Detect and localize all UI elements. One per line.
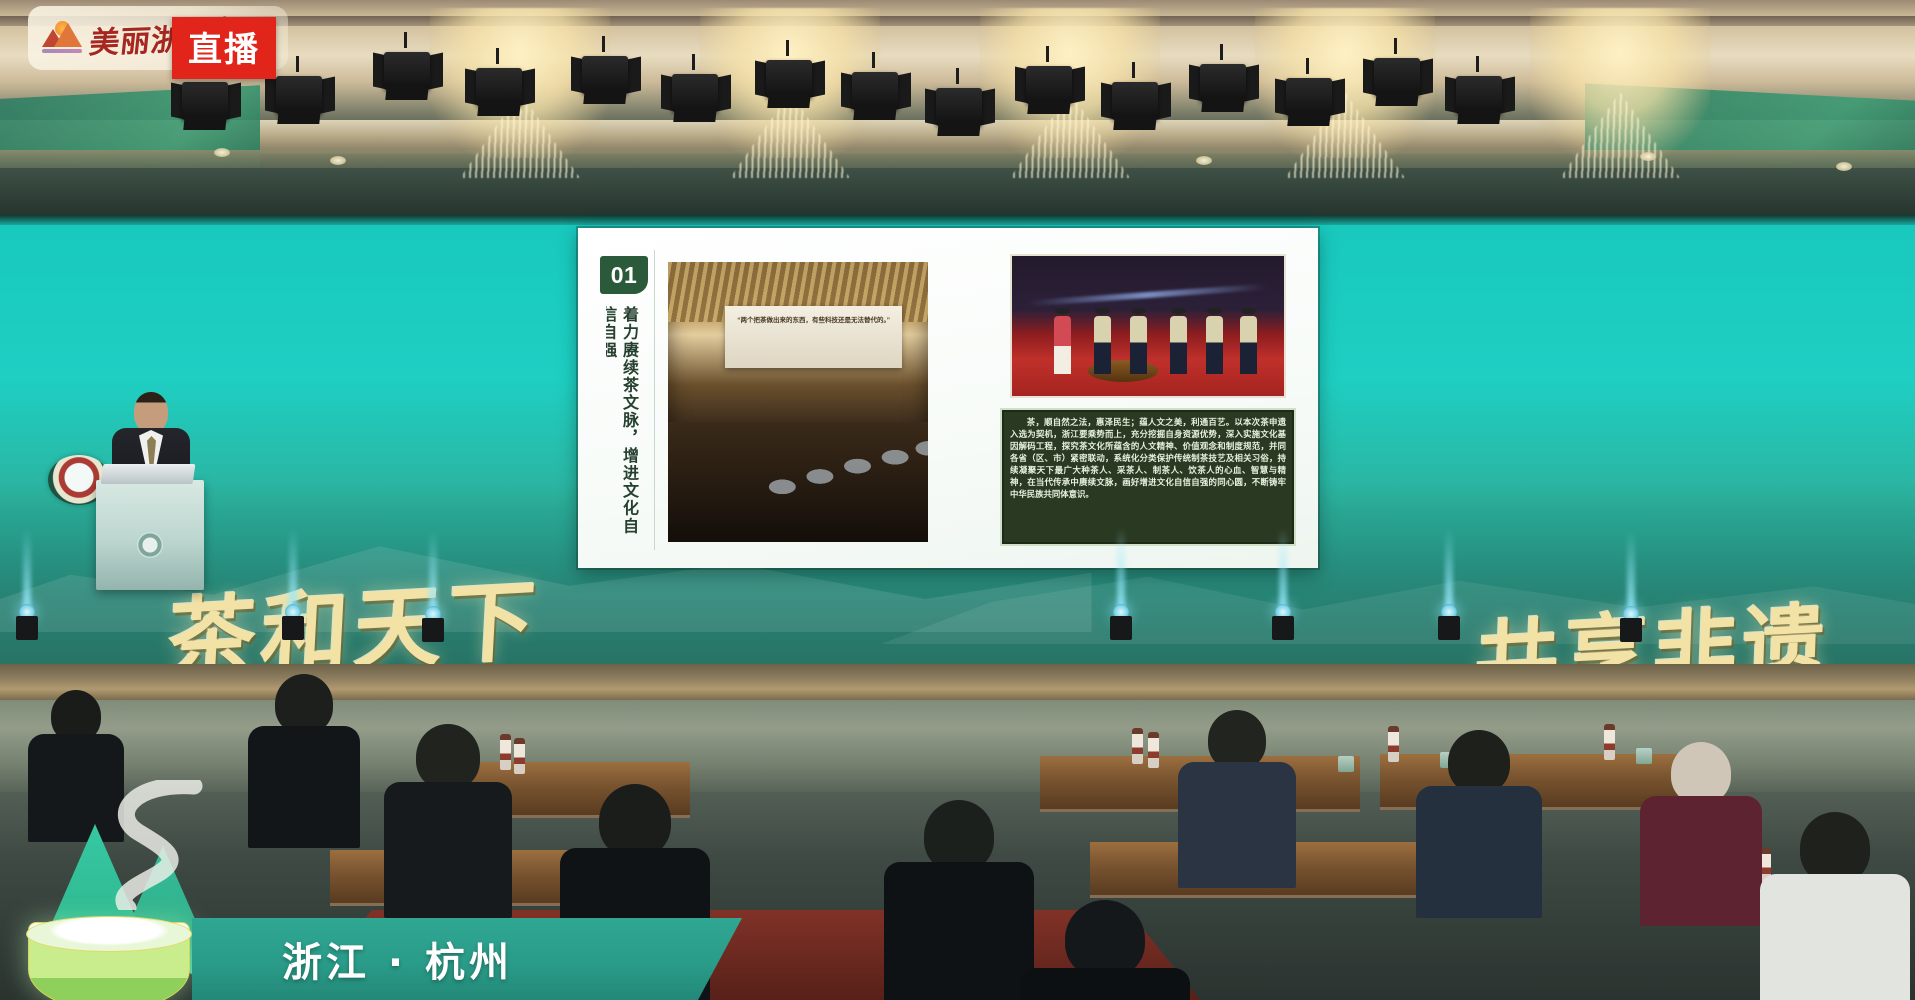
moving-head-light: [1106, 596, 1136, 640]
audience-member: [384, 724, 512, 914]
podium-emblem: [137, 532, 163, 558]
stage-spotlight: [1108, 74, 1164, 128]
stage-spotlight: [1370, 50, 1426, 104]
ceiling-downlight: [1836, 162, 1852, 171]
tea-cup: [1338, 756, 1354, 772]
stage-spotlight: [932, 80, 988, 134]
slide-body-text: 茶，顺自然之法，惠泽民生；蕴人文之美，利通百艺。以本次茶申遗入选为契机，浙江要乘…: [1010, 417, 1286, 500]
water-bottle: [1388, 726, 1399, 762]
audience-member: [1020, 900, 1190, 1000]
moving-head-light: [1268, 596, 1298, 640]
water-bottle: [1148, 732, 1159, 768]
stage-spotlight: [1452, 68, 1508, 122]
slide-vertical-title: 着力赓续茶文脉，增进文化自信自强: [606, 306, 640, 550]
moving-head-light: [12, 596, 42, 640]
ceiling-downlight: [1640, 152, 1656, 161]
audience-member: [28, 690, 124, 840]
mountain-sun-icon: [40, 21, 84, 55]
presentation-slide: 01 着力赓续茶文脉，增进文化自信自强 “两个把茶做出来的东西，有些科技还是无法…: [578, 228, 1318, 568]
tea-performance-stage-photo: [1012, 256, 1284, 396]
podium-laptop: [101, 464, 196, 484]
stage-spotlight: [1282, 70, 1338, 124]
stage-spotlight: [272, 68, 328, 122]
backdrop-calligraphy-left: 茶和天下: [165, 550, 544, 670]
water-bottle: [1132, 728, 1143, 764]
chandelier: [1530, 8, 1710, 158]
stage-spotlight: [1022, 58, 1078, 112]
audience-member: [1640, 742, 1762, 924]
slide-body-textbox: 茶，顺自然之法，惠泽民生；蕴人文之美，利通百艺。以本次茶申遗入选为契机，浙江要乘…: [1000, 408, 1296, 546]
moving-head-light: [418, 598, 448, 642]
moving-head-light: [1434, 596, 1464, 640]
live-badge: 直播: [172, 17, 276, 79]
photo-performer: [1094, 316, 1111, 374]
ceiling-downlight: [1196, 156, 1212, 165]
stage-spotlight: [1196, 56, 1252, 110]
calligraphy-right-text: 共享非遗: [1473, 593, 1832, 670]
moving-head-light: [278, 596, 308, 640]
audience-member: [248, 674, 360, 844]
photo-light-beam: [1028, 284, 1267, 307]
slide-section-number: 01: [600, 256, 648, 294]
lower-third-banner: 浙江 · 杭州: [192, 918, 742, 1000]
stage-spotlight: [578, 48, 634, 102]
water-bottle: [1604, 724, 1615, 760]
tea-workshop-photo: “两个把茶做出来的东西，有些科技还是无法替代的。”: [668, 262, 928, 542]
ceiling-downlight: [330, 156, 346, 165]
audience-member: [1416, 730, 1542, 916]
photo-tea-pans: [756, 438, 928, 512]
stage-spotlight: [668, 66, 724, 120]
photo-performer: [1206, 316, 1223, 374]
stage-spotlight: [178, 74, 234, 128]
podium: [96, 480, 204, 590]
audience-member: [884, 800, 1034, 1000]
audience-member: [1178, 710, 1296, 886]
stage-spotlight: [472, 60, 528, 114]
photo-performer: [1170, 316, 1187, 374]
moving-head-light: [1616, 598, 1646, 642]
photo-performer: [1130, 316, 1147, 374]
ceiling-downlight: [214, 148, 230, 157]
stage-spotlight: [848, 64, 904, 118]
audience-member: [1760, 812, 1910, 1000]
stage-spotlight: [762, 52, 818, 106]
backdrop-top-edge: [0, 215, 1915, 225]
water-bottle: [514, 738, 525, 774]
slide-divider: [654, 250, 655, 550]
broadcast-video-frame: 茶和天下 共享非遗 01 着力赓续茶文脉，增进文化自信自强 “两个把茶做出来的东…: [0, 0, 1915, 1000]
photo-wall-sign: “两个把茶做出来的东西，有些科技还是无法替代的。”: [725, 306, 902, 368]
photo-performer: [1240, 316, 1257, 374]
location-label: 浙江 · 杭州: [282, 930, 513, 988]
calligraphy-left-text: 茶和天下: [165, 568, 543, 670]
photo-wall-quote: “两个把茶做出来的东西，有些科技还是无法替代的。”: [725, 316, 902, 326]
photo-performer: [1054, 316, 1071, 374]
stage-spotlight: [380, 44, 436, 98]
